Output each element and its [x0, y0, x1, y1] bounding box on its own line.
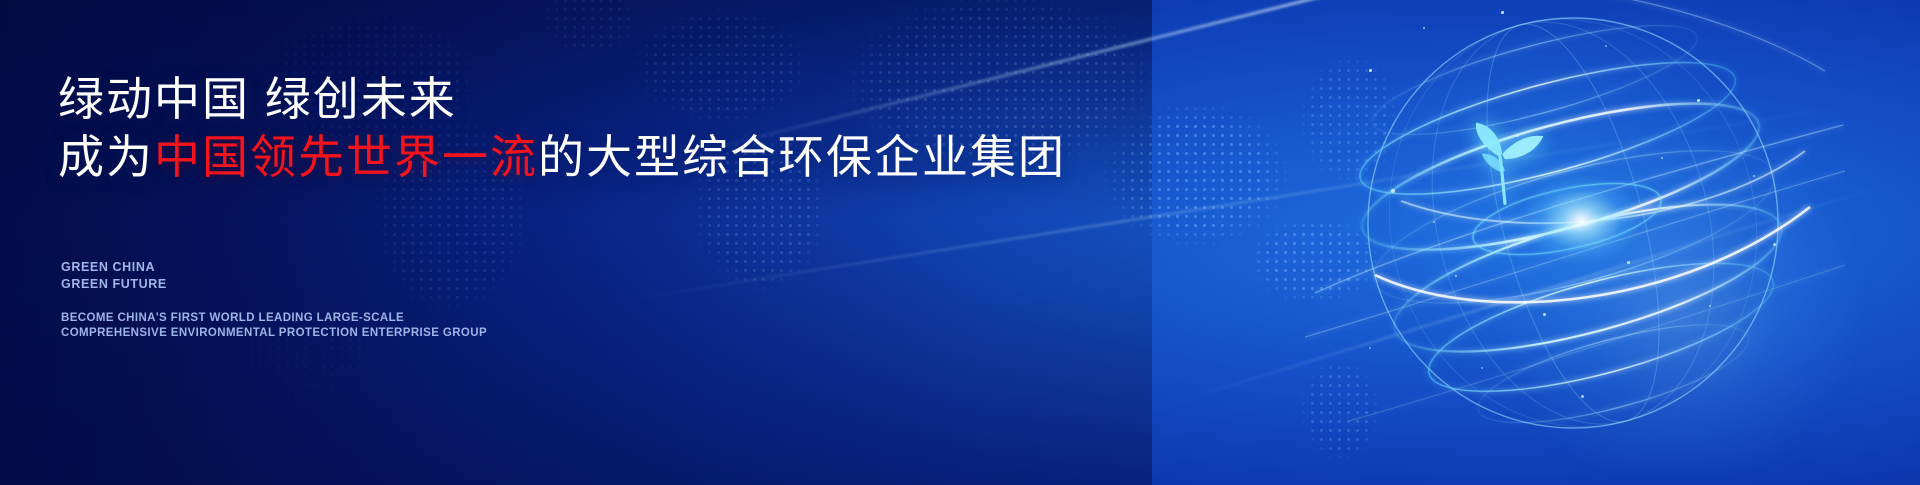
headline-suffix: 的大型综合环保企业集团: [538, 131, 1066, 183]
tagline-english: GREEN CHINA GREEN FUTURE: [61, 259, 167, 292]
headline-prefix: 成为: [58, 131, 154, 183]
headline-line-2: 成为中国领先世界一流的大型综合环保企业集团: [58, 134, 1058, 182]
tagline-line-1: GREEN CHINA: [61, 259, 167, 276]
headline-highlight: 中国领先世界一流: [154, 131, 538, 183]
hero-banner: 绿动中国 绿创未来 成为中国领先世界一流的大型综合环保企业集团 GREEN CH…: [0, 0, 1920, 485]
headline-block: 绿动中国 绿创未来 成为中国领先世界一流的大型综合环保企业集团: [58, 76, 1058, 182]
paragraph-english: BECOME CHINA'S FIRST WORLD LEADING LARGE…: [61, 311, 487, 341]
headline-line-1: 绿动中国 绿创未来: [58, 76, 1058, 124]
tagline-line-2: GREEN FUTURE: [61, 276, 167, 293]
paragraph-line-2: COMPREHENSIVE ENVIRONMENTAL PROTECTION E…: [61, 326, 487, 341]
paragraph-line-1: BECOME CHINA'S FIRST WORLD LEADING LARGE…: [61, 311, 487, 326]
